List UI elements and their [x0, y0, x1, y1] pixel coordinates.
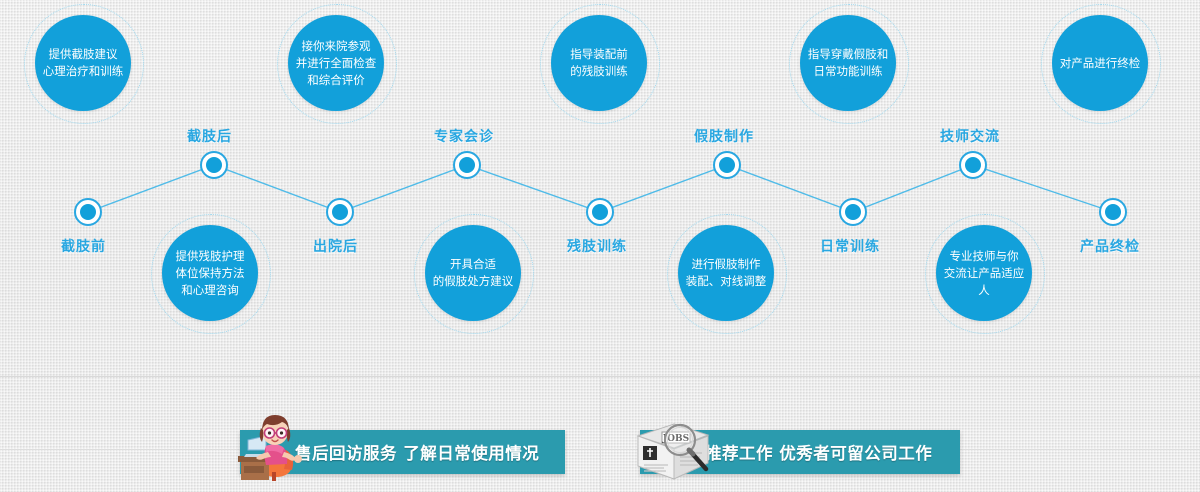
stage-label-final-check: 产品终检: [1080, 236, 1140, 256]
bubble-assembly[interactable]: 进行假肢制作 装配、对线调整: [678, 225, 774, 321]
stage-label-after-discharge: 出院后: [313, 236, 358, 256]
node-dot-icon: [80, 204, 96, 220]
bubble-line: 专业技师与你: [940, 248, 1028, 265]
stage-label-daily-training: 日常训练: [820, 236, 880, 256]
bubble-pre-fit-training[interactable]: 指导装配前 的残肢训练: [551, 15, 647, 111]
bubble-stump-care[interactable]: 提供残肢护理 体位保持方法 和心理咨询: [162, 225, 258, 321]
timeline-node-after-discharge[interactable]: [326, 198, 354, 226]
bubble-line: 进行假肢制作: [686, 256, 767, 273]
bubble-line: 体位保持方法: [176, 265, 245, 282]
bubble-line: 提供截肢建议: [43, 46, 124, 63]
bubble-line: 日常功能训练: [808, 63, 889, 80]
bubble-line: 指导装配前: [570, 46, 628, 63]
timeline-node-daily-training[interactable]: [839, 198, 867, 226]
bubble-line: 装配、对线调整: [686, 273, 767, 290]
banner-job-text: 推荐工作 优秀者可留公司工作: [705, 440, 932, 464]
timeline-node-prosthesis-make[interactable]: [713, 151, 741, 179]
stage-label-post-amputation: 截肢后: [187, 126, 232, 146]
timeline-node-post-amputation[interactable]: [200, 151, 228, 179]
node-dot-icon: [592, 204, 608, 220]
stage-label-expert-consult: 专家会诊: [434, 126, 494, 146]
timeline-node-pre-amputation[interactable]: [74, 198, 102, 226]
bubble-line: 对产品进行终检: [1060, 55, 1141, 72]
bubble-line: 心理治疗和训练: [43, 63, 124, 80]
bubble-prescription[interactable]: 开具合适 的假肢处方建议: [425, 225, 521, 321]
bubble-line: 接你来院参观: [296, 38, 377, 55]
banner-job-recommendation[interactable]: 推荐工作 优秀者可留公司工作: [640, 430, 960, 474]
stage-label-tech-exchange: 技师交流: [940, 126, 1000, 146]
service-flow-infographic: 截肢前 截肢后 出院后 专家会诊 残肢训练 假肢制作 日常训练 技师交流 产品终…: [0, 0, 1200, 492]
timeline-node-stump-training[interactable]: [586, 198, 614, 226]
node-dot-icon: [965, 157, 981, 173]
vertical-divider-center: [600, 377, 601, 492]
node-dot-icon: [845, 204, 861, 220]
bubble-line: 的假肢处方建议: [433, 273, 514, 290]
banner-after-sales-text: 售后回访服务 了解日常使用情况: [295, 440, 539, 464]
bubble-pre-amputation[interactable]: 提供截肢建议 心理治疗和训练: [35, 15, 131, 111]
bubble-tech-adapt[interactable]: 专业技师与你 交流让产品适应人: [936, 225, 1032, 321]
node-dot-icon: [459, 157, 475, 173]
bubble-final-inspect[interactable]: 对产品进行终检: [1052, 15, 1148, 111]
stage-label-stump-training: 残肢训练: [567, 236, 627, 256]
bubble-line: 交流让产品适应人: [940, 265, 1028, 299]
bubble-line: 指导穿戴假肢和: [808, 46, 889, 63]
bubble-line: 的残肢训练: [570, 63, 628, 80]
bubble-line: 提供残肢护理: [176, 248, 245, 265]
bubble-line: 并进行全面检查: [296, 55, 377, 72]
node-dot-icon: [332, 204, 348, 220]
bubble-line: 和心理咨询: [176, 282, 245, 299]
bubble-wear-guidance[interactable]: 指导穿戴假肢和 日常功能训练: [800, 15, 896, 111]
bubble-line: 和综合评价: [296, 72, 377, 89]
timeline-node-expert-consult[interactable]: [453, 151, 481, 179]
stage-label-prosthesis-make: 假肢制作: [694, 126, 754, 146]
stage-label-pre-amputation: 截肢前: [61, 236, 106, 256]
node-dot-icon: [1105, 204, 1121, 220]
node-dot-icon: [719, 157, 735, 173]
node-dot-icon: [206, 157, 222, 173]
horizontal-divider-bottom: [0, 449, 1200, 450]
timeline-node-final-check[interactable]: [1099, 198, 1127, 226]
banner-after-sales-service[interactable]: 售后回访服务 了解日常使用情况: [240, 430, 565, 474]
timeline-node-tech-exchange[interactable]: [959, 151, 987, 179]
bubble-hospital-visit[interactable]: 接你来院参观 并进行全面检查 和综合评价: [288, 15, 384, 111]
bubble-line: 开具合适: [433, 256, 514, 273]
